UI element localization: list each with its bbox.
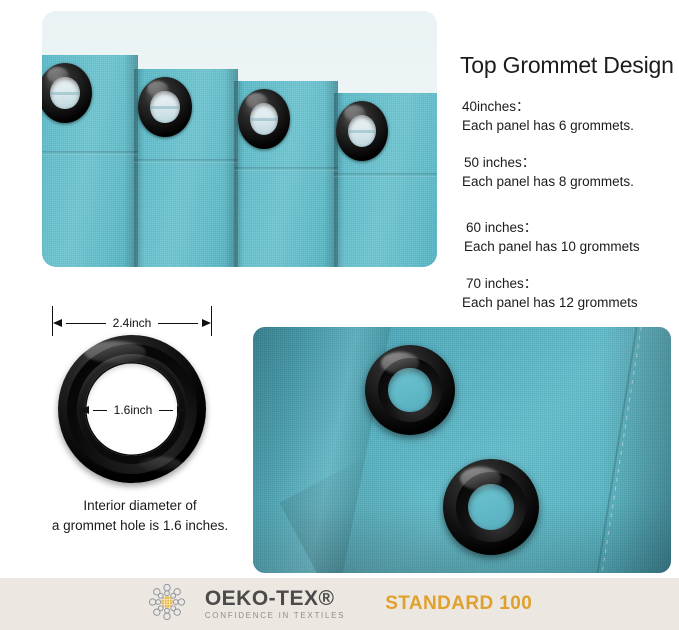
spec-description: Each panel has 8 grommets. xyxy=(462,172,676,191)
infographic-page: Top Grommet Design 40inches： Each panel … xyxy=(0,0,679,630)
spec-size-label: 60 inches： xyxy=(462,218,676,237)
diagram-caption: Interior diameter of a grommet hole is 1… xyxy=(36,496,244,535)
arrow-head-right-icon xyxy=(202,319,211,327)
grommet-icon xyxy=(336,101,388,161)
grommet-highlight xyxy=(381,352,419,374)
oeko-tex-flower-logo-icon xyxy=(147,582,187,627)
inner-dimension-label: 1.6inch xyxy=(111,403,156,417)
curtain-panels-photo xyxy=(42,11,437,267)
grommet-hole xyxy=(468,484,514,530)
arrow-head-right-icon xyxy=(177,406,186,414)
grommet-highlight xyxy=(344,105,365,121)
panel-seam xyxy=(334,173,437,177)
grommet-dimension-diagram: 2.4inch 1.6inch Interior diameter of a g… xyxy=(36,302,244,532)
spec-block: Top Grommet Design 40inches： Each panel … xyxy=(462,52,676,312)
grommet-highlight xyxy=(84,341,146,363)
spec-description: Each panel has 12 grommets xyxy=(462,293,676,312)
grommet-icon xyxy=(443,459,539,555)
panel-seam xyxy=(234,167,338,171)
grommet-icon xyxy=(238,89,290,149)
arrow-head-left-icon xyxy=(80,406,89,414)
oeko-tex-standard-label: STANDARD 100 xyxy=(385,593,532,615)
arrow-line xyxy=(159,410,173,411)
arrow-line xyxy=(93,410,107,411)
panel-seam xyxy=(42,151,138,155)
arrow-head-left-icon xyxy=(53,319,62,327)
grommet-highlight xyxy=(246,93,267,109)
spec-description: Each panel has 6 grommets. xyxy=(462,116,676,135)
arrow-line xyxy=(66,323,106,324)
grommet-highlight xyxy=(147,81,169,97)
arrow-line xyxy=(158,323,198,324)
spec-size-label: 40inches： xyxy=(462,97,676,116)
oeko-tex-wordmark: OEKO-TEX® CONFIDENCE IN TEXTILES xyxy=(205,588,345,620)
outer-dimension-arrow: 2.4inch xyxy=(53,316,211,330)
spec-group-70: 70 inches： Each panel has 12 grommets xyxy=(462,274,676,312)
diagram-caption-line2: a grommet hole is 1.6 inches. xyxy=(36,516,244,536)
diagram-caption-line1: Interior diameter of xyxy=(36,496,244,516)
oeko-tex-brand-name: OEKO-TEX® xyxy=(205,588,345,609)
spec-group-60: 60 inches： Each panel has 10 grommets xyxy=(462,218,676,256)
grommet-icon xyxy=(138,77,192,137)
grommet-hole xyxy=(388,368,431,411)
grommet-highlight xyxy=(460,467,500,490)
oeko-tex-footer-band: OEKO-TEX® CONFIDENCE IN TEXTILES STANDAR… xyxy=(0,578,679,630)
spec-size-label: 70 inches： xyxy=(462,274,676,293)
outer-dimension-label: 2.4inch xyxy=(110,316,155,330)
page-title: Top Grommet Design xyxy=(460,52,676,79)
spec-group-50: 50 inches： Each panel has 8 grommets. xyxy=(462,153,676,191)
grommet-highlight xyxy=(138,457,182,471)
panel-seam xyxy=(134,159,238,163)
grommet-icon xyxy=(365,345,455,435)
dimension-extension-line xyxy=(211,306,212,336)
spec-group-40: 40inches： Each panel has 6 grommets. xyxy=(462,97,676,135)
inner-dimension-arrow: 1.6inch xyxy=(80,403,186,417)
spec-description: Each panel has 10 grommets xyxy=(462,237,676,256)
spec-size-label: 50 inches： xyxy=(462,153,676,172)
grommet-highlight xyxy=(47,67,69,83)
oeko-tex-tagline: CONFIDENCE IN TEXTILES xyxy=(205,612,345,620)
grommet-closeup-photo xyxy=(253,327,671,573)
